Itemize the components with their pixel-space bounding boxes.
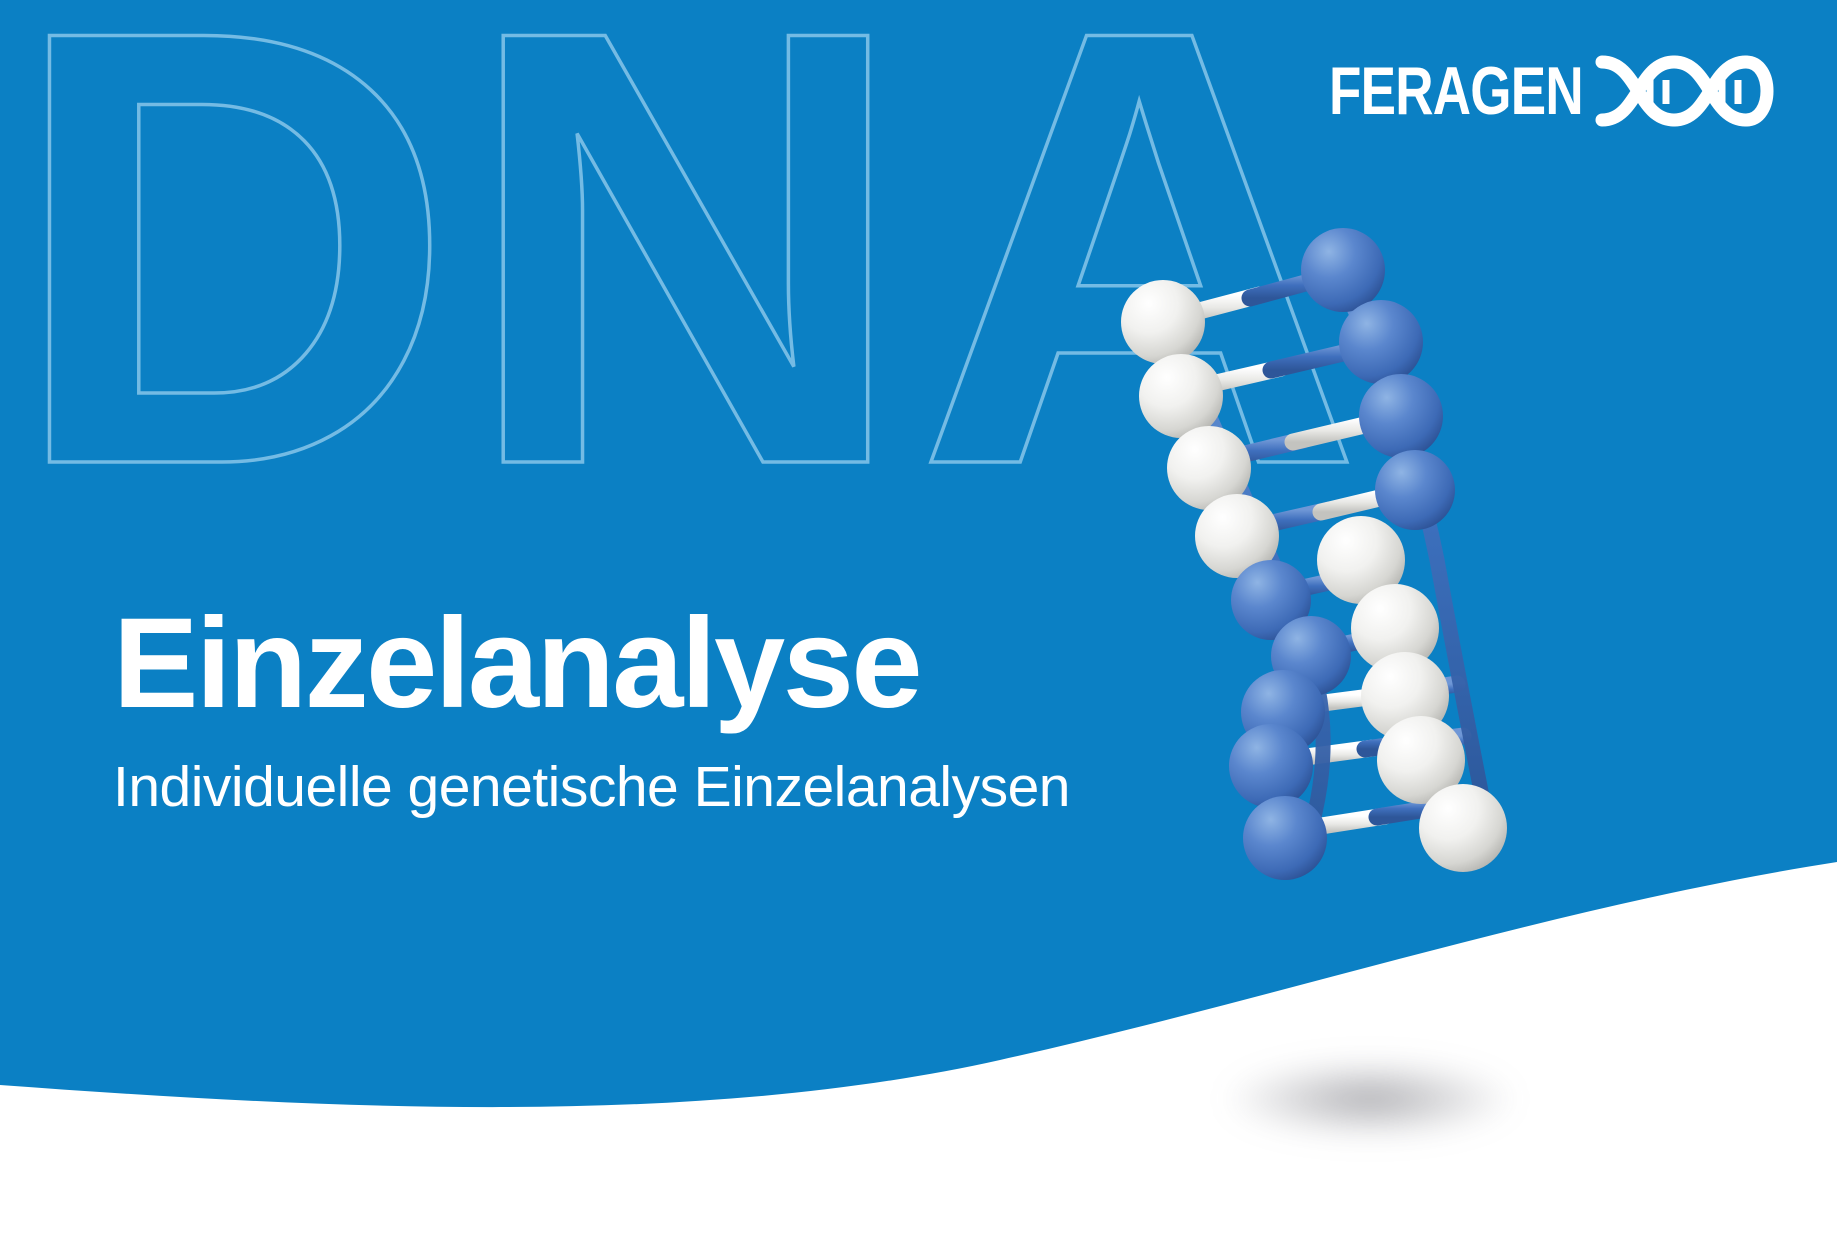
hero-copy: Einzelanalyse Individuelle genetische Ei… xyxy=(113,600,1070,819)
dna-einzelanalyse-banner: DNA xyxy=(0,0,1837,1252)
brand-logo[interactable]: FERAGEN xyxy=(1329,54,1779,128)
page-subtitle: Individuelle genetische Einzelanalysen xyxy=(113,756,1070,819)
brand-wordmark: FERAGEN xyxy=(1329,57,1583,125)
dna-double-helix-model xyxy=(1085,200,1645,960)
page-title: Einzelanalyse xyxy=(113,600,1070,728)
model-drop-shadow xyxy=(1225,1060,1515,1138)
dna-helix-icon xyxy=(1594,54,1779,128)
